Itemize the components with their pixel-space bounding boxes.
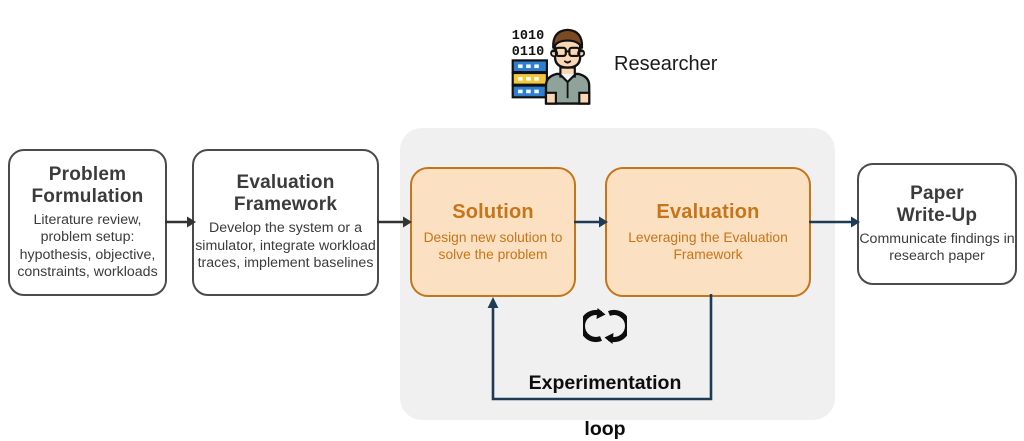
node-title-line2: Write-Up (897, 205, 977, 226)
node-description: Communicate findings in research paper (859, 231, 1015, 266)
connector-framework-to-solution (377, 214, 413, 230)
loop-label-line2: loop (584, 418, 625, 440)
diagram-canvas: Problem Formulation Literature review, p… (0, 0, 1024, 434)
binary-top-text: 1010 (512, 29, 544, 44)
node-title-line1: Problem (49, 164, 126, 185)
node-description: Develop the system or a simulator, integ… (194, 220, 377, 273)
node-title: Problem Formulation (32, 164, 144, 208)
experimentation-loop-label: Experimentation loop (470, 349, 740, 441)
node-paper-write-up[interactable]: Paper Write-Up Communicate findings in r… (857, 163, 1017, 285)
loop-label-line1: Experimentation (529, 372, 682, 394)
connector-solution-to-evaluation (574, 214, 609, 230)
researcher-actor: 1010 0110 (510, 14, 760, 114)
node-evaluation-framework[interactable]: Evaluation Framework Develop the system … (192, 149, 379, 296)
node-title: Paper Write-Up (897, 183, 977, 227)
researcher-avatar-icon: 1010 0110 (510, 19, 600, 109)
node-problem-formulation[interactable]: Problem Formulation Literature review, p… (8, 149, 167, 296)
node-evaluation[interactable]: Evaluation Leveraging the Evaluation Fra… (605, 167, 811, 297)
node-title: Solution (452, 201, 534, 223)
node-title: Evaluation Framework (234, 172, 337, 216)
node-description: Literature review, problem setup: hypoth… (10, 212, 165, 282)
node-description: Design new solution to solve the problem (412, 229, 574, 263)
node-title: Evaluation (656, 201, 759, 223)
researcher-label: Researcher (614, 53, 717, 76)
node-title-line1: Evaluation (236, 172, 334, 193)
connector-evaluation-to-paper (809, 214, 861, 230)
node-title-line1: Paper (910, 183, 964, 204)
experimentation-loop-caption: Experimentation loop (470, 306, 740, 441)
node-solution[interactable]: Solution Design new solution to solve th… (410, 167, 576, 297)
node-description: Leveraging the Evaluation Framework (618, 229, 798, 263)
connector-problem-to-framework (165, 214, 197, 230)
node-title-line2: Framework (234, 194, 337, 215)
refresh-cycle-icon (583, 306, 627, 346)
binary-bottom-text: 0110 (512, 45, 544, 60)
node-title-line2: Formulation (32, 186, 144, 207)
